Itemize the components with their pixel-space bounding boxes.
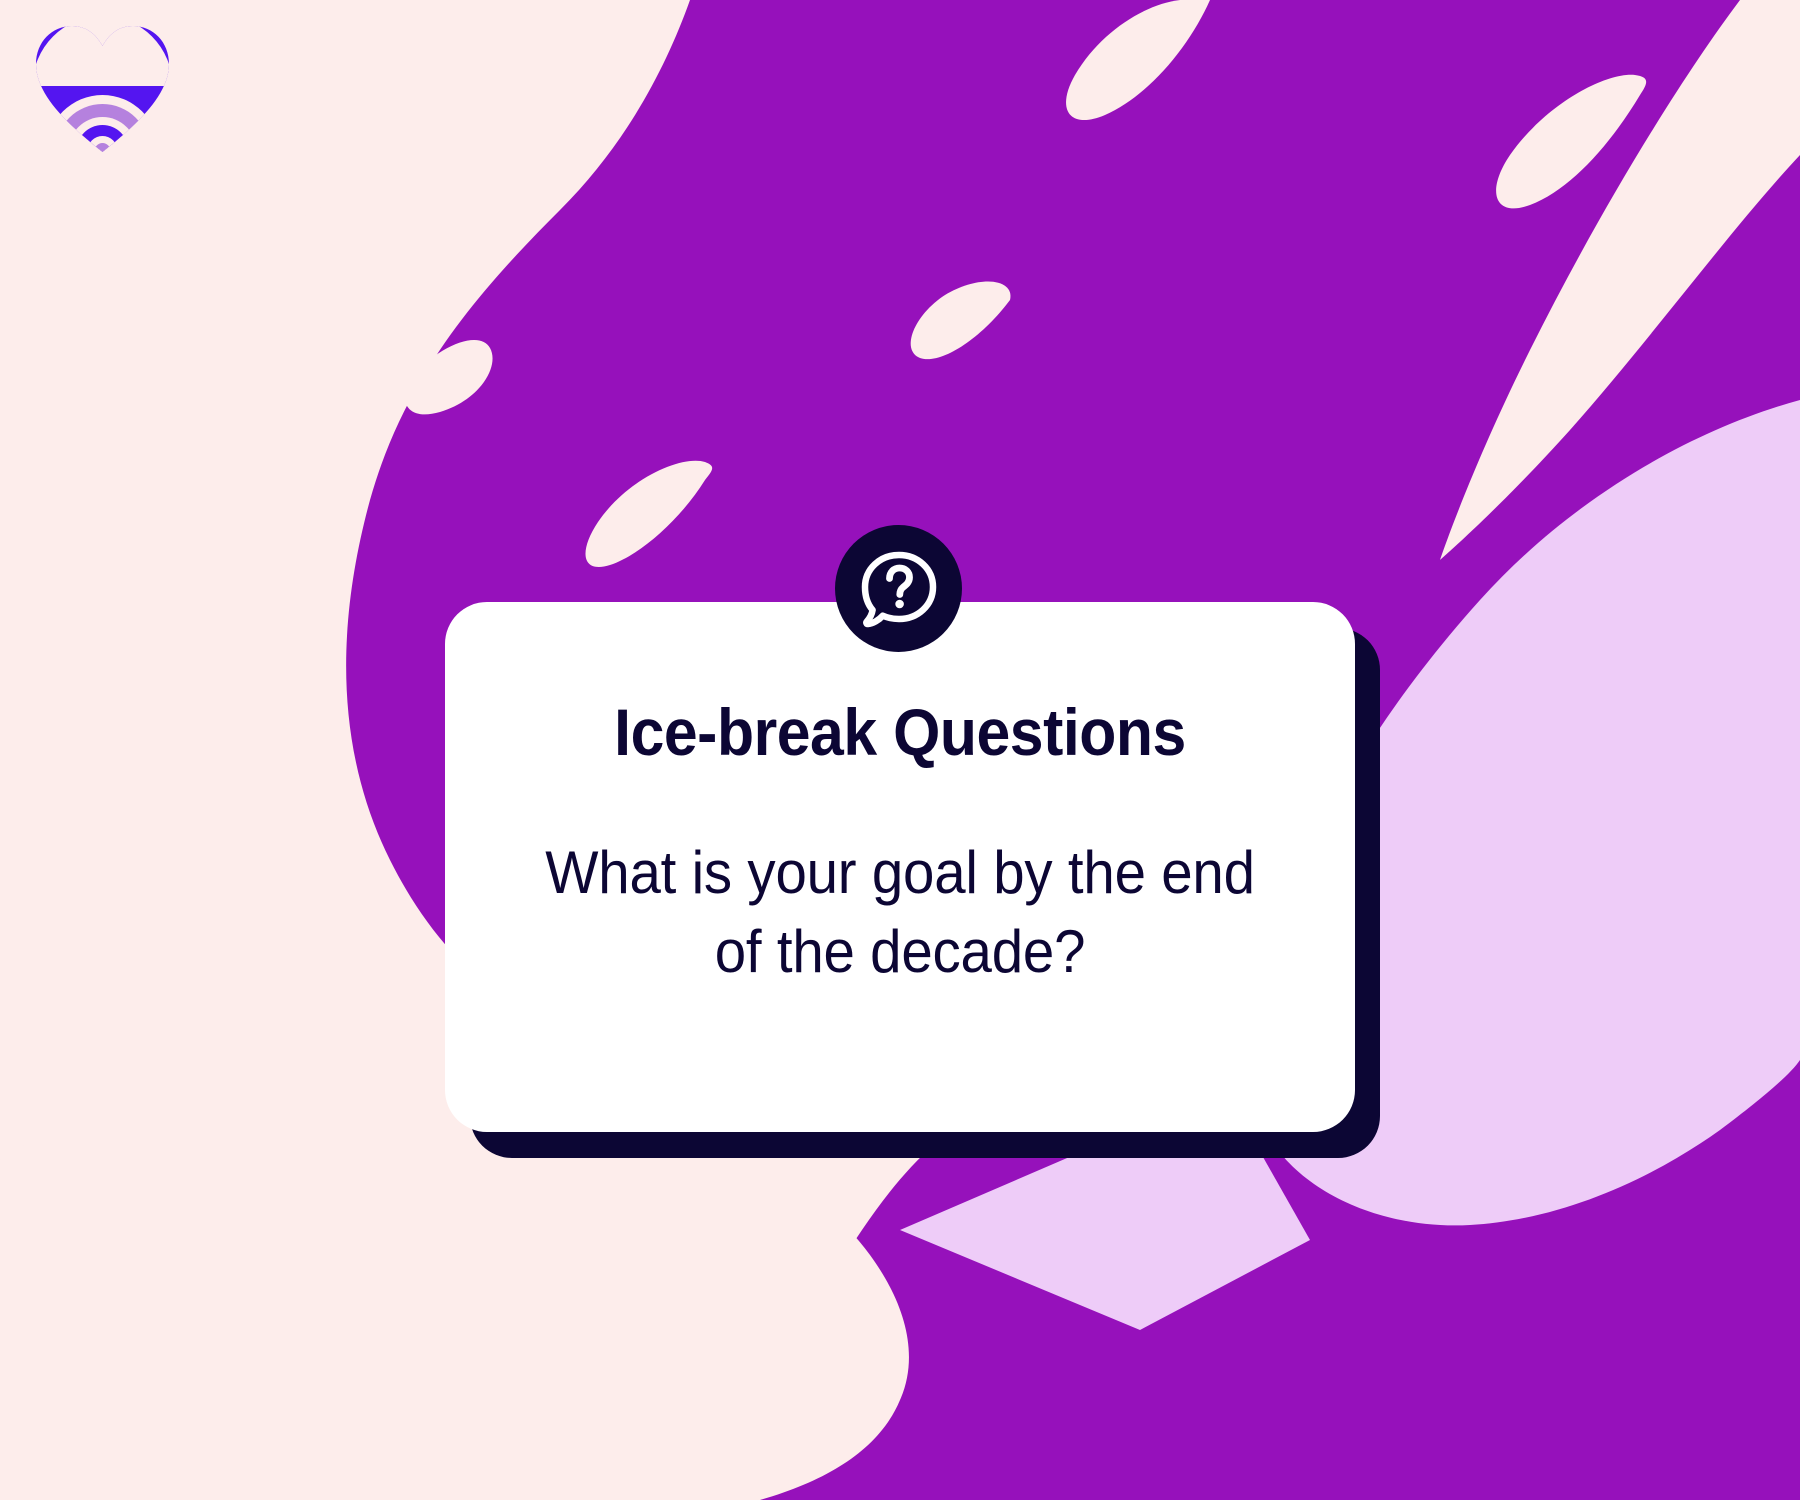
logo-arc-gap-1 — [33, 18, 173, 86]
card-title: Ice-break Questions — [537, 698, 1264, 767]
question-speech-bubble-icon — [857, 547, 941, 631]
question-badge — [835, 525, 962, 652]
card-question-text: What is your goal by the end of the deca… — [529, 767, 1272, 991]
question-card: Ice-break Questions What is your goal by… — [445, 602, 1355, 1132]
heart-wifi-logo — [30, 18, 175, 153]
poster-canvas: Ice-break Questions What is your goal by… — [0, 0, 1800, 1500]
